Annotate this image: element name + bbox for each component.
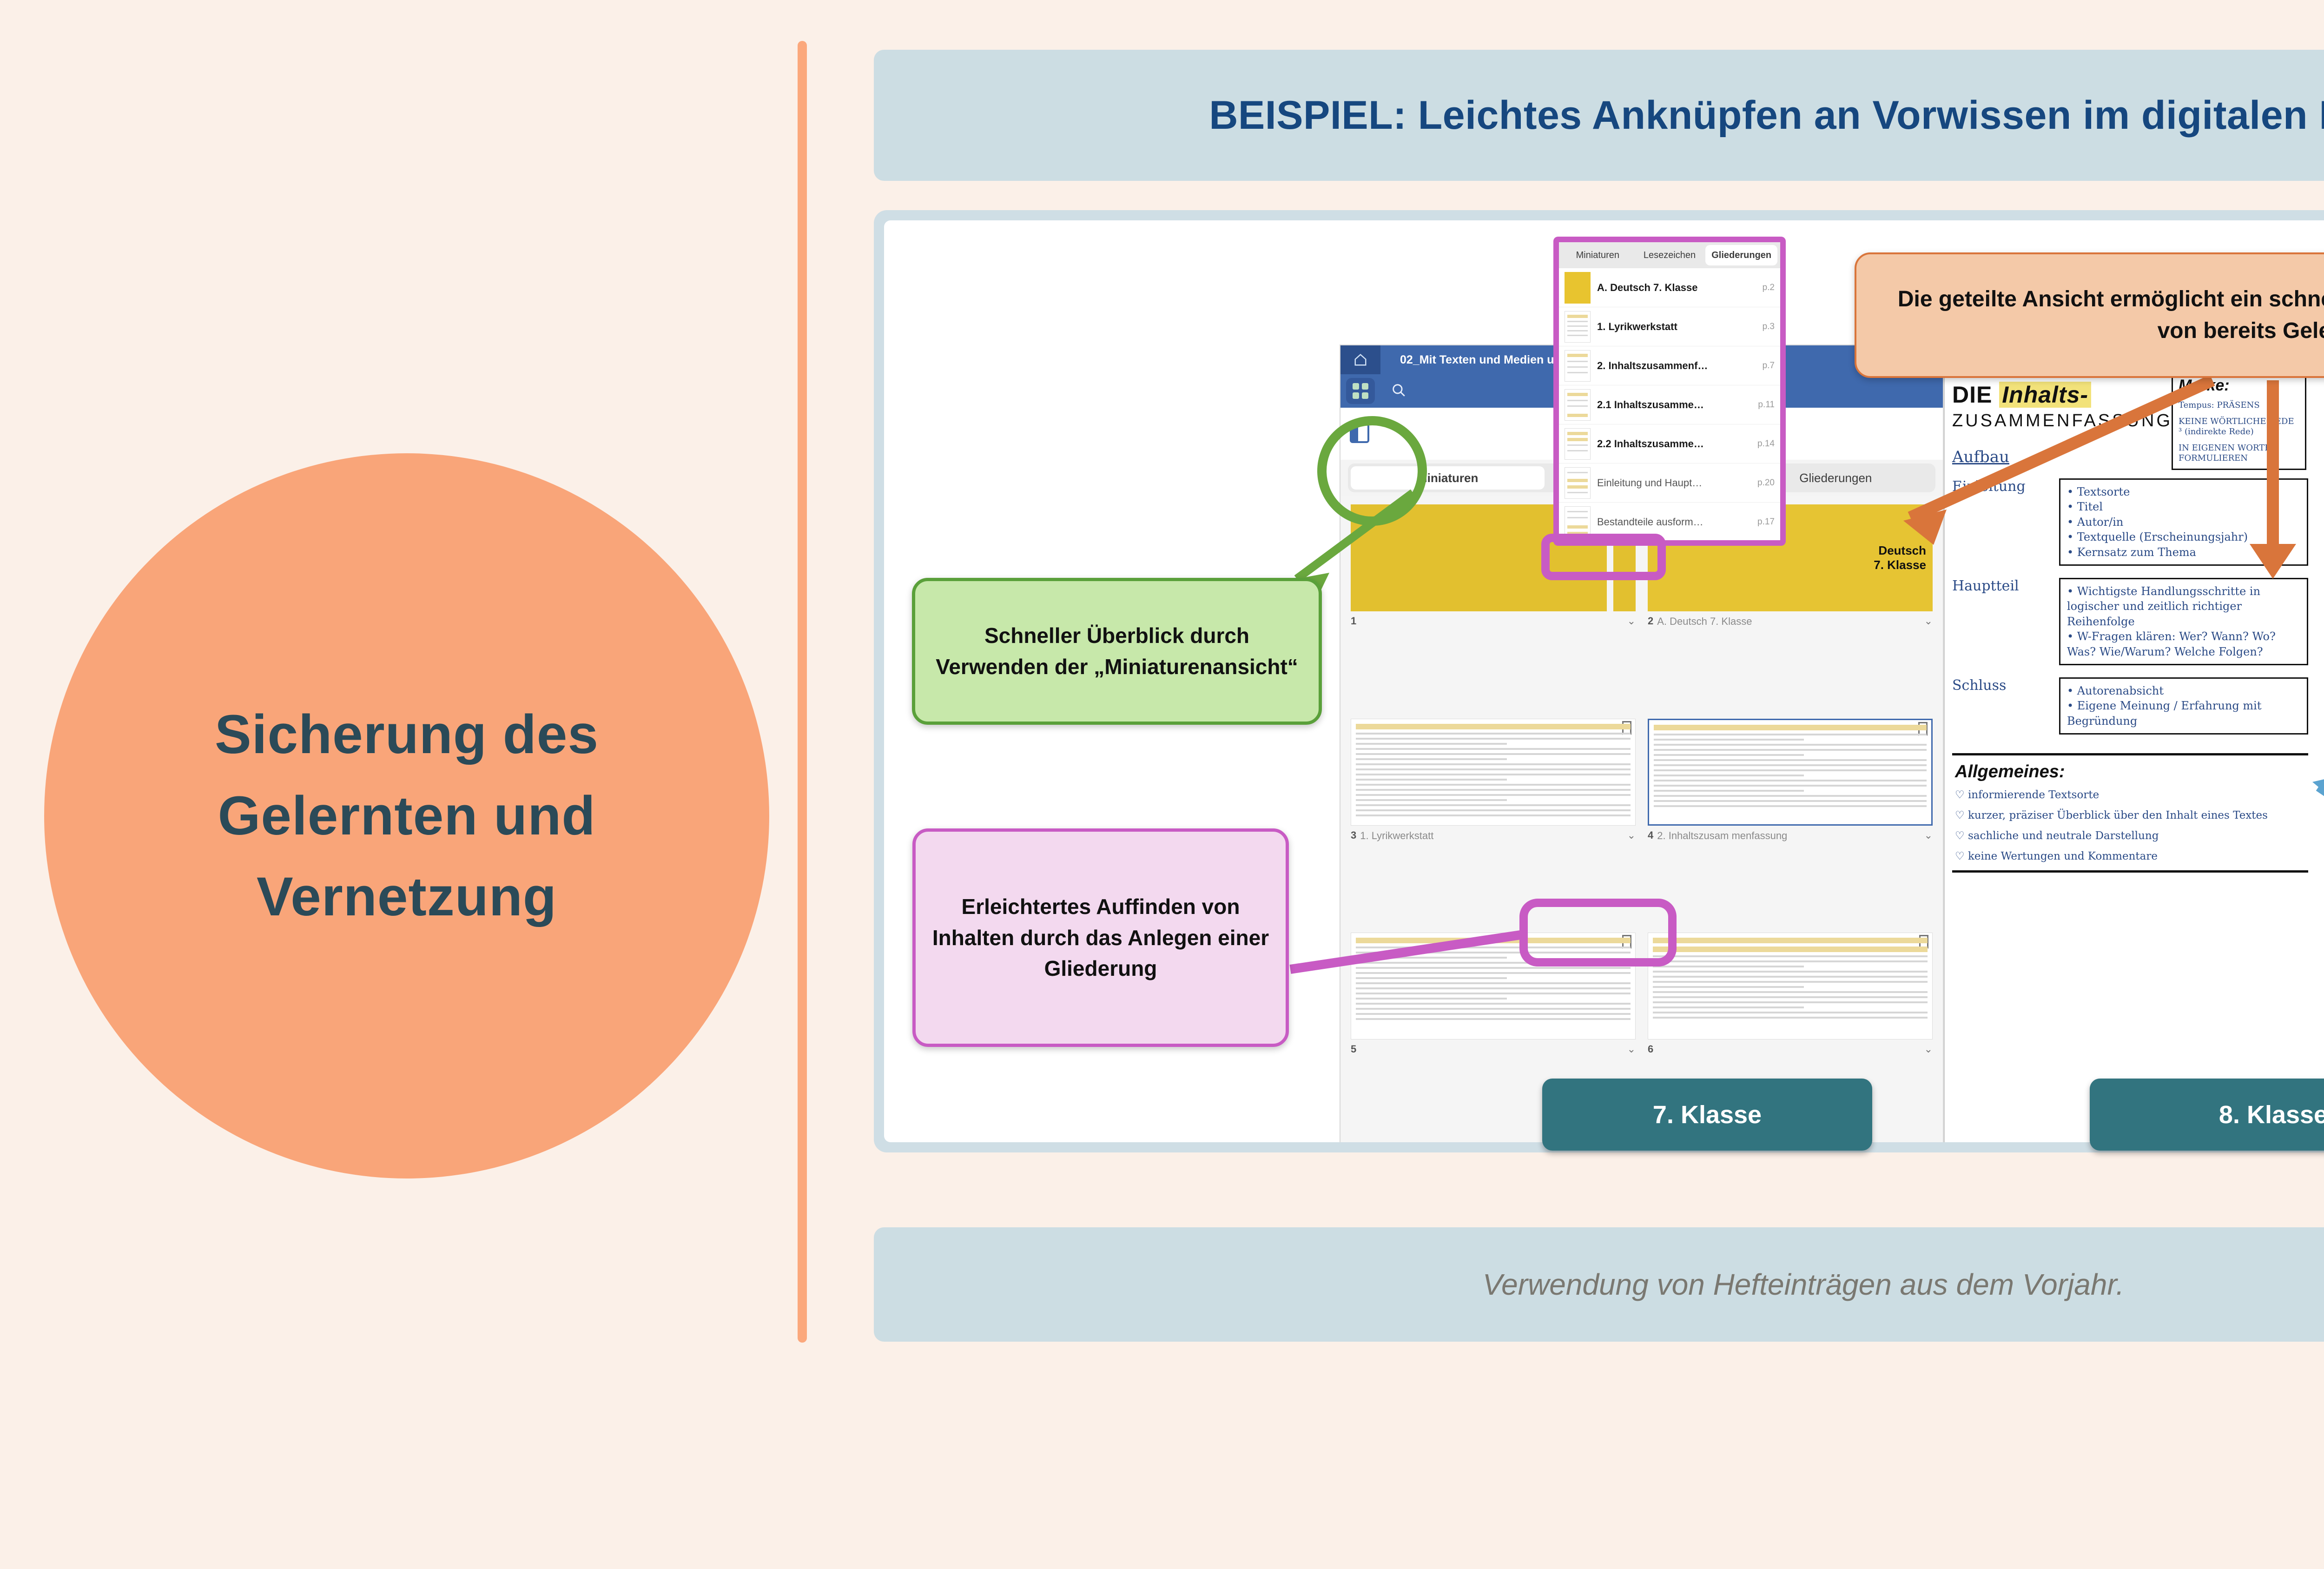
- topic-circle: Sicherung des Gelernten und Vernetzung: [44, 453, 769, 1178]
- thumbnail-number: 2: [1648, 615, 1653, 627]
- outline-item-page: p.3: [1763, 322, 1775, 332]
- merke-item: KEINE WÖRTLICHE REDE ³ (indirekte Rede): [2179, 417, 2299, 437]
- general-notes-item: ♡ kurzer, präziser Überblick über den In…: [1955, 809, 2305, 823]
- notes-row-box: • Wichtigste Handlungsschritte in logisc…: [2059, 578, 2308, 665]
- merke-title: Merke:: [2179, 377, 2299, 395]
- notes-title-prefix: DIE: [1952, 382, 1992, 408]
- outline-thumbnail: [1565, 389, 1591, 421]
- thumbnail-preview: [1648, 933, 1933, 1039]
- outline-item-page: p.17: [1757, 517, 1775, 527]
- notes-title-highlight: Inhalts-: [1999, 382, 2091, 408]
- header-banner: BEISPIEL: Leichtes Anknüpfen an Vorwisse…: [874, 50, 2324, 181]
- thumbnail-item-selected[interactable]: 4 2. Inhaltszusam menfassung ⌄: [1648, 719, 1933, 924]
- outline-item[interactable]: A. Deutsch 7. Klasse p.2: [1559, 268, 1780, 307]
- outline-tab-lesezeichen[interactable]: Lesezeichen: [1634, 245, 1706, 265]
- outline-item[interactable]: 2.2 Inhaltszusamme… p.14: [1559, 424, 1780, 463]
- callout-pink: Erleichtertes Auffinden von Inhalten dur…: [912, 828, 1289, 1047]
- notes-row: Einleitung • Textsorte • Titel • Autor/i…: [1952, 478, 2308, 566]
- thumbnail-number: 1: [1351, 615, 1356, 627]
- outline-item-label: 2.2 Inhaltszusamme…: [1597, 438, 1757, 450]
- thumbnail-number: 5: [1351, 1043, 1356, 1055]
- outline-popup-panel: Miniaturen Lesezeichen Gliederungen A. D…: [1553, 237, 1786, 546]
- chevron-down-icon[interactable]: ⌄: [1924, 829, 1933, 841]
- thumbnail-label: A. Deutsch 7. Klasse: [1657, 615, 1924, 628]
- chevron-down-icon[interactable]: ⌄: [1627, 1043, 1636, 1055]
- merke-item: IN EIGENEN WORTEN FORMULIEREN: [2179, 443, 2299, 464]
- outline-item-page: p.7: [1763, 361, 1775, 371]
- outline-item-label: 1. Lyrikwerkstatt: [1597, 321, 1763, 333]
- thumbnail-preview: [1351, 719, 1636, 826]
- general-notes-title: Allgemeines:: [1955, 762, 2305, 782]
- outline-thumbnail: [1565, 272, 1591, 304]
- thumbnail-number: 6: [1648, 1043, 1653, 1055]
- thumbnail-number: 4: [1648, 829, 1653, 841]
- outline-item-label: Bestandteile ausform…: [1597, 516, 1757, 528]
- outline-item-page: p.14: [1757, 439, 1775, 449]
- outline-thumbnail: [1565, 350, 1591, 382]
- topic-circle-title: Sicherung des Gelernten und Vernetzung: [109, 694, 704, 938]
- notes-row-box: • Autorenabsicht • Eigene Meinung / Erfa…: [2059, 677, 2308, 735]
- outline-tabs: Miniaturen Lesezeichen Gliederungen: [1559, 242, 1780, 268]
- app-left-document-title: 02_Mit Texten und Medien umge: [1400, 353, 1578, 367]
- home-icon[interactable]: [1340, 345, 1380, 374]
- chevron-down-icon[interactable]: ⌄: [1924, 615, 1933, 627]
- chevron-down-icon[interactable]: ⌄: [1924, 1043, 1933, 1055]
- outline-thumbnail: [1565, 506, 1591, 538]
- outline-item[interactable]: Bestandteile ausform… p.17: [1559, 503, 1780, 542]
- notes-row-box: • Textsorte • Titel • Autor/in • Textque…: [2059, 478, 2308, 566]
- notes-row-label: Hauptteil: [1952, 578, 2059, 665]
- outline-tab-miniaturen[interactable]: Miniaturen: [1562, 245, 1634, 265]
- tab-miniaturen[interactable]: Miniaturen: [1351, 466, 1545, 490]
- callout-orange: Die geteilte Ansicht ermöglicht ein schn…: [1855, 252, 2324, 378]
- thumbnail-preview: [1648, 719, 1933, 826]
- thumbnail-preview: [1351, 933, 1636, 1039]
- notes-bullet: • Autor/in: [2067, 515, 2300, 530]
- outline-item-label: 2.1 Inhaltszusamme…: [1597, 399, 1758, 411]
- notes-bullet: • Titel: [2067, 499, 2300, 514]
- outline-thumbnail: [1565, 467, 1591, 499]
- notes-bullet: • Textquelle (Erscheinungsjahr): [2067, 530, 2300, 544]
- outline-item-page: p.11: [1758, 400, 1775, 410]
- merke-box: Merke: Tempus: PRÄSENS KEINE WÖRTLICHE R…: [2172, 371, 2306, 470]
- thumbnail-item[interactable]: 3 1. Lyrikwerkstatt ⌄: [1351, 719, 1636, 924]
- outline-item-page: p.2: [1763, 283, 1775, 293]
- notes-row: Hauptteil • Wichtigste Handlungsschritte…: [1952, 578, 2308, 665]
- notes-bullet: • Textsorte: [2067, 484, 2300, 499]
- notes-row-label: Einleitung: [1952, 478, 2059, 566]
- thumbnail-label: 1. Lyrikwerkstatt: [1360, 829, 1627, 842]
- outline-item[interactable]: 2.1 Inhaltszusamme… p.11: [1559, 385, 1780, 424]
- handwritten-notes-page: 2.11.2025 Merke: Tempus: PRÄSENS KEINE W…: [1944, 344, 2316, 1142]
- general-notes-item: ♡ keine Wertungen und Kommentare: [1955, 850, 2305, 864]
- notes-bullet: • Kernsatz zum Thema: [2067, 545, 2300, 560]
- split-view-icon[interactable]: [1350, 424, 1369, 443]
- footer-banner: Verwendung von Hefteinträgen aus dem Vor…: [874, 1227, 2324, 1342]
- outline-item-label: A. Deutsch 7. Klasse: [1597, 282, 1763, 294]
- outline-thumbnail: [1565, 311, 1591, 343]
- outline-tab-gliederungen[interactable]: Gliederungen: [1705, 245, 1777, 265]
- callout-green: Schneller Überblick durch Verwenden der …: [912, 578, 1322, 725]
- cover-label: Deutsch7. Klasse: [1874, 543, 1933, 572]
- footer-caption: Verwendung von Hefteinträgen aus dem Vor…: [1483, 1267, 2124, 1302]
- merke-item: Tempus: PRÄSENS: [2179, 400, 2299, 411]
- outline-item[interactable]: Einleitung und Haupt… p.20: [1559, 463, 1780, 503]
- page-title: BEISPIEL: Leichtes Anknüpfen an Vorwisse…: [1209, 93, 2324, 139]
- outline-item[interactable]: 2. Inhaltszusammenf… p.7: [1559, 346, 1780, 385]
- outline-item-label: 2. Inhaltszusammenf…: [1597, 360, 1763, 372]
- outline-item-page: p.20: [1757, 478, 1775, 488]
- outline-item-label: Einleitung und Haupt…: [1597, 477, 1757, 489]
- thumbnail-grid-icon[interactable]: [1346, 378, 1375, 404]
- outline-item[interactable]: 1. Lyrikwerkstatt p.3: [1559, 307, 1780, 346]
- chevron-down-icon[interactable]: ⌄: [1627, 615, 1636, 627]
- notes-bullet: • Eigene Meinung / Erfahrung mit Begründ…: [2067, 698, 2300, 728]
- general-notes-item: ♡ sachliche und neutrale Darstellung: [1955, 829, 2305, 843]
- badge-klasse-7: 7. Klasse: [1542, 1079, 1872, 1151]
- thumbnail-grid: 1 ⌄ Deutsch7. Klasse 2 A. Deutsch 7. Kla…: [1340, 496, 1943, 1142]
- badge-klasse-8: 8. Klasse: [2090, 1079, 2324, 1151]
- notes-bullet: • Autorenabsicht: [2067, 683, 2300, 698]
- general-notes-item: ♡ informierende Textsorte: [1955, 788, 2305, 802]
- chevron-down-icon[interactable]: ⌄: [1627, 829, 1636, 841]
- outline-thumbnail: [1565, 428, 1591, 460]
- vertical-divider: [798, 41, 807, 1343]
- general-notes-box: Allgemeines: ♡ informierende Textsorte ♡…: [1952, 753, 2308, 873]
- notes-row-label: Schluss: [1952, 677, 2059, 735]
- notes-row: Schluss • Autorenabsicht • Eigene Meinun…: [1952, 677, 2308, 735]
- notes-bullet: • W-Fragen klären: Wer? Wann? Wo? Was? W…: [2067, 629, 2300, 659]
- thumbnail-number: 3: [1351, 829, 1356, 841]
- thumbnail-label: 2. Inhaltszusam menfassung: [1657, 829, 1924, 842]
- notes-bullet: • Wichtigste Handlungsschritte in logisc…: [2067, 584, 2300, 629]
- search-icon[interactable]: [1391, 382, 1406, 400]
